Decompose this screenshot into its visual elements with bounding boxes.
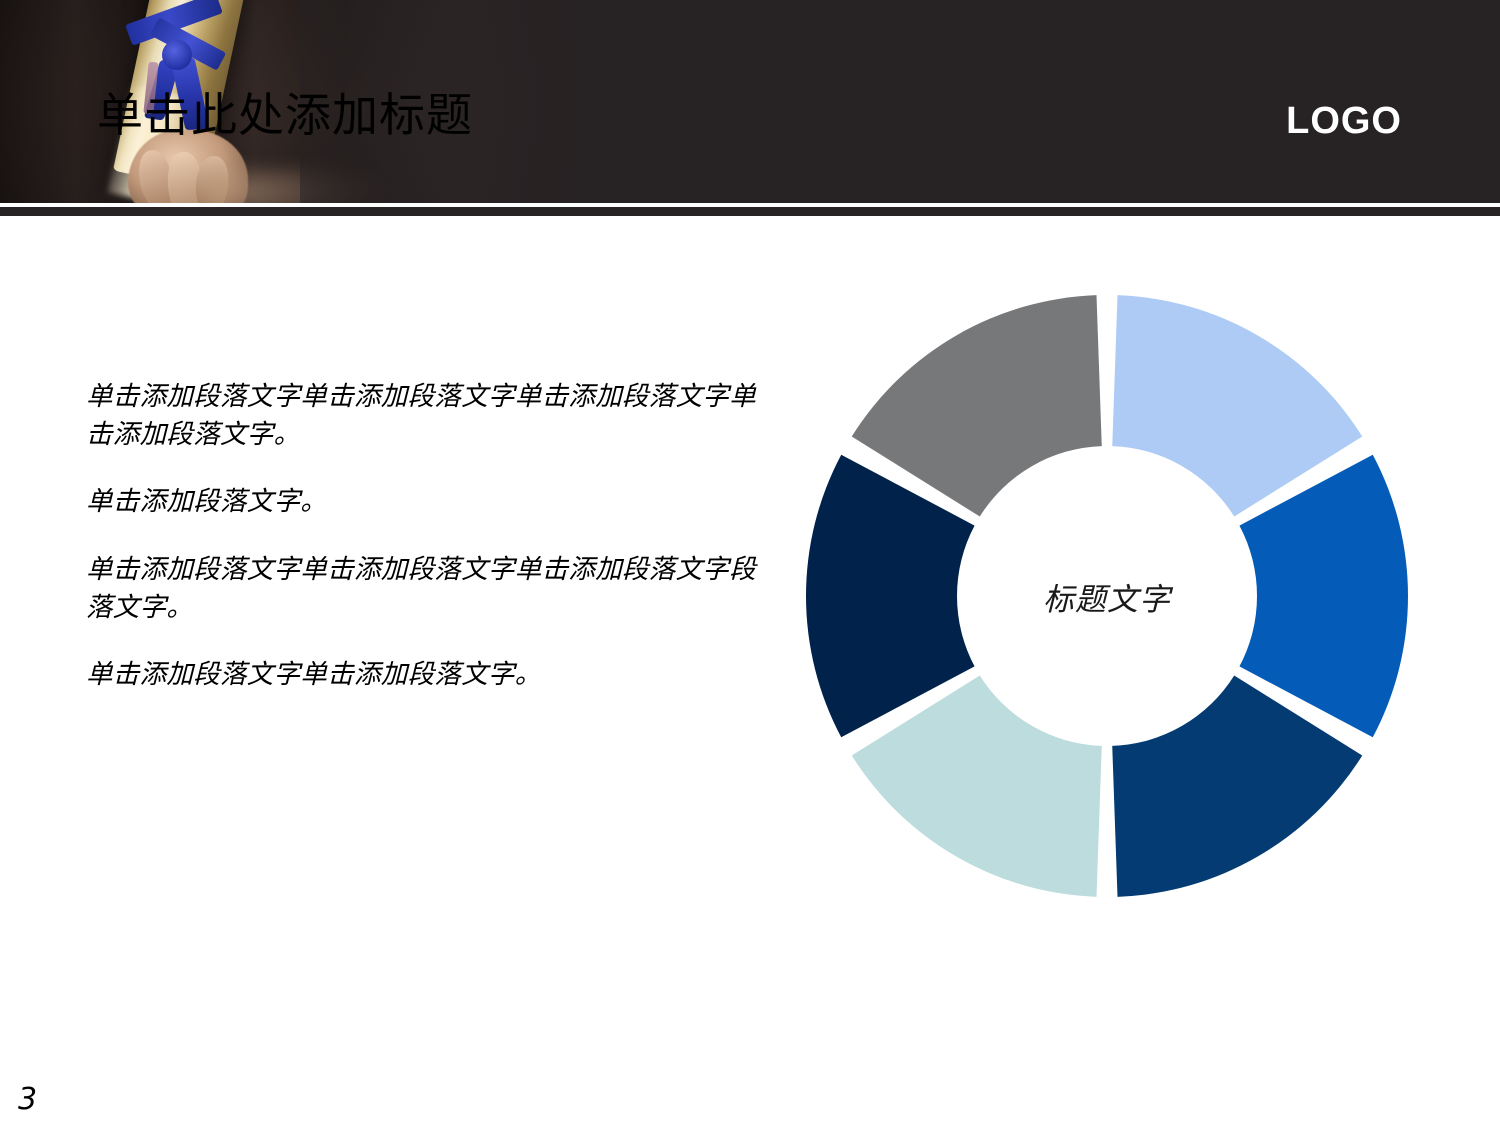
donut-chart-svg [805, 294, 1409, 898]
donut-chart: 标题文字 [805, 294, 1409, 898]
page-title[interactable]: 单击此处添加标题 [97, 92, 473, 138]
paragraph-2[interactable]: 单击添加段落文字。 [86, 483, 776, 521]
page-number: 3 [18, 1082, 37, 1117]
header-banner: 单击此处添加标题 LOGO [0, 0, 1500, 203]
ribbon-knot [162, 40, 192, 70]
paragraph-1[interactable]: 单击添加段落文字单击添加段落文字单击添加段落文字单击添加段落文字。 [86, 378, 776, 453]
logo[interactable]: LOGO [1286, 100, 1402, 143]
paragraph-4[interactable]: 单击添加段落文字单击添加段落文字。 [86, 656, 776, 694]
slide-canvas: 单击此处添加标题 LOGO 单击添加段落文字单击添加段落文字单击添加段落文字单击… [0, 0, 1500, 1125]
header-divider-rule [0, 207, 1500, 216]
body-text-column: 单击添加段落文字单击添加段落文字单击添加段落文字单击添加段落文字。 单击添加段落… [86, 378, 776, 694]
paragraph-3[interactable]: 单击添加段落文字单击添加段落文字单击添加段落文字段落文字。 [86, 551, 776, 626]
